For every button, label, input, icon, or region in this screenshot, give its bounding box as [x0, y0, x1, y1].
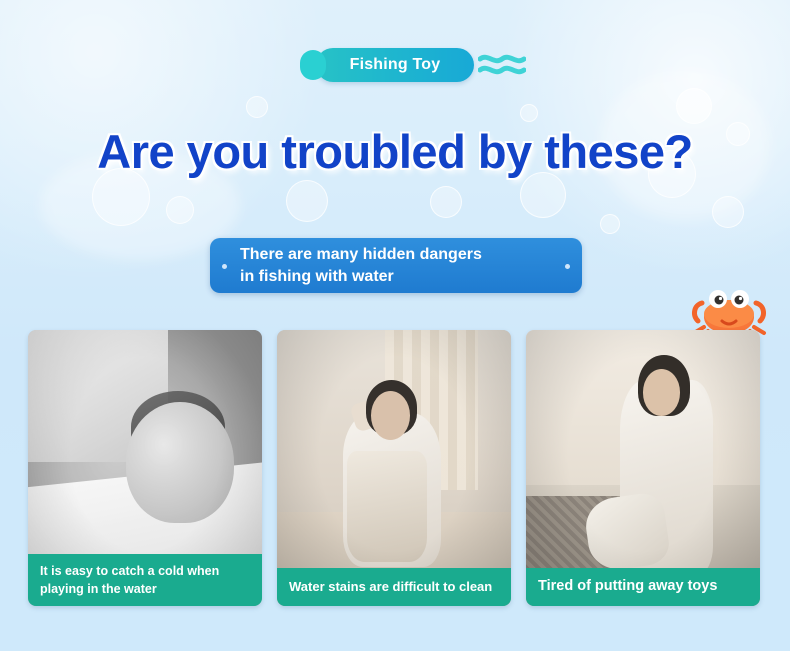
subtitle-line-1: There are many hidden dangers: [240, 244, 482, 266]
card-row: It is easy to catch a cold when playing …: [28, 330, 762, 606]
card-item[interactable]: Tired of putting away toys: [526, 330, 760, 606]
bubble-decoration: [166, 196, 194, 224]
card-item[interactable]: It is easy to catch a cold when playing …: [28, 330, 262, 606]
bubble-decoration: [712, 196, 744, 228]
card-caption: It is easy to catch a cold when playing …: [28, 554, 262, 606]
card-item[interactable]: Water stains are difficult to clean: [277, 330, 511, 606]
bubble-decoration: [286, 180, 328, 222]
woman-picking-up-laundry-photo: [526, 330, 760, 606]
bubble-decoration: [520, 104, 538, 122]
bullet-dot-right: [565, 264, 570, 269]
promotional-banner: Fishing Toy Are you troubled by these? T…: [0, 0, 790, 651]
bubble-decoration: [676, 88, 712, 124]
card-caption: Water stains are difficult to clean: [277, 568, 511, 606]
page-title: Are you troubled by these?: [0, 124, 790, 179]
bullet-dot-left: [222, 264, 227, 269]
fishing-toy-badge: Fishing Toy: [316, 48, 475, 82]
card-caption: Tired of putting away toys: [526, 568, 760, 606]
badge-left-cap: [300, 50, 326, 80]
subtitle-bar: There are many hidden dangers in fishing…: [210, 238, 582, 293]
wave-icon: [478, 53, 526, 77]
bubble-decoration: [600, 214, 620, 234]
badge-label: Fishing Toy: [350, 56, 441, 74]
bubble-decoration: [246, 96, 268, 118]
woman-sitting-on-floor-photo: [277, 330, 511, 606]
subtitle-line-2: in fishing with water: [240, 266, 482, 288]
badge-container: Fishing Toy: [0, 48, 790, 82]
bubble-decoration: [430, 186, 462, 218]
